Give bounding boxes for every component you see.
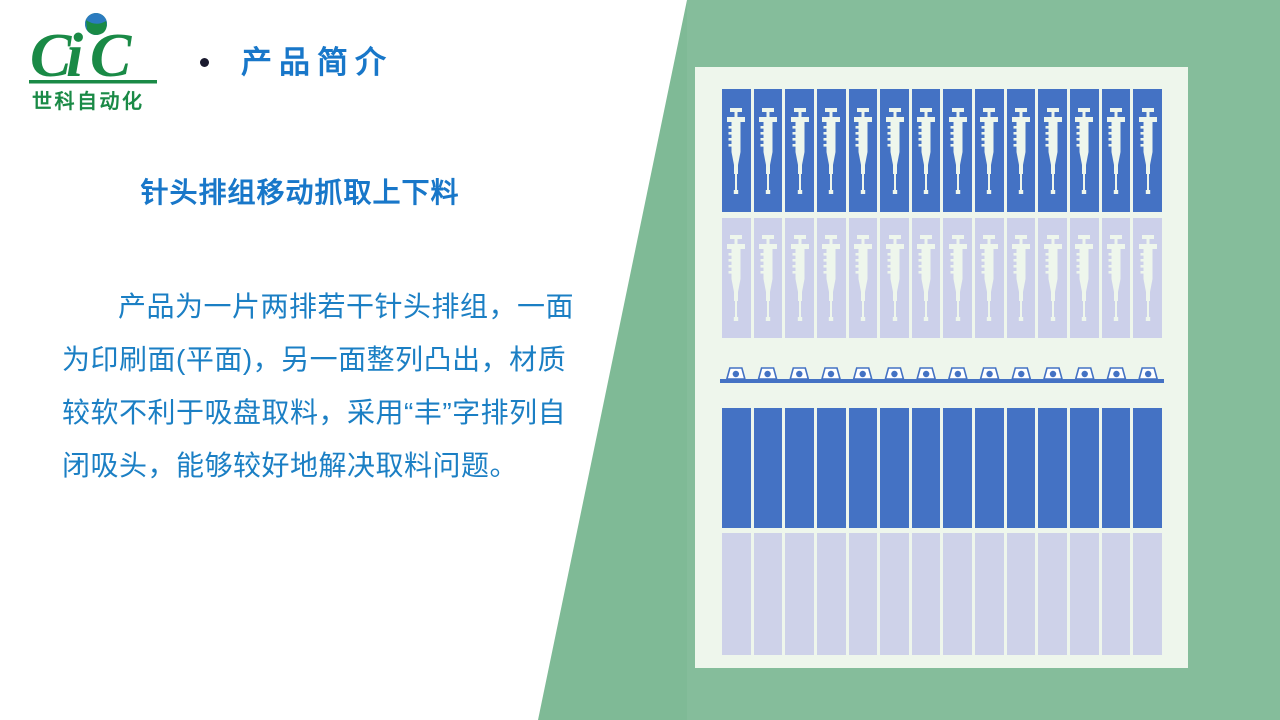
- grid-cell: [722, 533, 751, 655]
- grid-cell: [754, 89, 783, 212]
- grid-cell: [849, 533, 878, 655]
- syringe-icon: [915, 235, 937, 321]
- syringe-icon: [757, 108, 779, 194]
- syringe-icon: [725, 235, 747, 321]
- grid-cell: [1038, 218, 1067, 338]
- syringe-icon: [757, 108, 779, 194]
- grid-cell: [1133, 89, 1162, 212]
- grid-cell: [880, 533, 909, 655]
- grid-cell: [1133, 408, 1162, 528]
- syringe-icon: [1105, 235, 1127, 321]
- syringe-icon: [852, 108, 874, 194]
- syringe-icon: [1042, 235, 1064, 321]
- grid-cell: [1102, 533, 1131, 655]
- grid-cell: [722, 89, 751, 212]
- grid-cell: [975, 89, 1004, 212]
- grid-cell: [849, 218, 878, 338]
- grid-cell: [1070, 533, 1099, 655]
- grid-cell: [975, 533, 1004, 655]
- syringe-icon: [852, 235, 874, 321]
- slide-canvas: C i C 世科自动化 产品简介 针头排组移动抓取上下料 产品为一片两排若干针头…: [0, 0, 1280, 720]
- syringe-icon: [820, 108, 842, 194]
- needle-row-front: [722, 89, 1162, 212]
- syringe-icon: [884, 108, 906, 194]
- grid-cell: [1133, 218, 1162, 338]
- needle-row-back: [722, 218, 1162, 338]
- grid-cell: [943, 533, 972, 655]
- grid-cell: [1070, 408, 1099, 528]
- grid-cell: [880, 408, 909, 528]
- suction-cup-icon: [720, 363, 1164, 385]
- syringe-icon: [1042, 108, 1064, 194]
- grid-cell: [975, 408, 1004, 528]
- syringe-icon: [1073, 108, 1095, 194]
- grid-cell: [1038, 408, 1067, 528]
- syringe-icon: [1010, 235, 1032, 321]
- section-subheading: 针头排组移动抓取上下料: [0, 176, 600, 210]
- grid-cell: [1070, 89, 1099, 212]
- title-bullet-icon: [200, 58, 209, 67]
- grid-cell: [754, 408, 783, 528]
- grid-cell: [1007, 218, 1036, 338]
- grid-cell: [943, 89, 972, 212]
- grid-cell: [1007, 408, 1036, 528]
- grid-cell: [817, 89, 846, 212]
- grid-cell: [912, 533, 941, 655]
- syringe-icon: [915, 108, 937, 194]
- grid-cell: [1038, 533, 1067, 655]
- syringe-icon: [1010, 235, 1032, 321]
- grid-cell: [943, 218, 972, 338]
- syringe-icon: [884, 235, 906, 321]
- syringe-icon: [820, 235, 842, 321]
- syringe-icon: [947, 235, 969, 321]
- cic-logo-icon: C i C 世科自动化: [24, 10, 166, 114]
- syringe-icon: [947, 235, 969, 321]
- grid-cell: [912, 408, 941, 528]
- syringe-icon: [789, 108, 811, 194]
- syringe-icon: [1105, 108, 1127, 194]
- syringe-icon: [852, 108, 874, 194]
- grid-cell: [912, 89, 941, 212]
- grid-cell: [849, 89, 878, 212]
- syringe-icon: [1137, 108, 1159, 194]
- grid-cell: [849, 408, 878, 528]
- syringe-icon: [978, 108, 1000, 194]
- grid-cell: [1102, 218, 1131, 338]
- syringe-icon: [725, 235, 747, 321]
- syringe-icon: [915, 108, 937, 194]
- syringe-icon: [820, 235, 842, 321]
- syringe-icon: [820, 108, 842, 194]
- syringe-icon: [1010, 108, 1032, 194]
- grid-cell: [1102, 408, 1131, 528]
- svg-text:i: i: [66, 22, 83, 90]
- svg-text:C: C: [90, 22, 132, 90]
- syringe-icon: [789, 235, 811, 321]
- company-logo: C i C 世科自动化: [24, 10, 166, 114]
- syringe-icon: [1042, 235, 1064, 321]
- grid-cell: [1007, 533, 1036, 655]
- syringe-icon: [1137, 235, 1159, 321]
- grid-cell: [1070, 218, 1099, 338]
- body-paragraph: 产品为一片两排若干针头排组，一面为印刷面(平面)，另一面整列凸出，材质较软不利于…: [62, 280, 582, 492]
- product-illustration-panel: [695, 67, 1188, 668]
- page-title: 产品简介: [241, 47, 393, 78]
- grid-cell: [817, 408, 846, 528]
- grid-cell: [817, 218, 846, 338]
- grid-cell: [722, 218, 751, 338]
- syringe-icon: [1137, 108, 1159, 194]
- syringe-icon: [947, 108, 969, 194]
- tray-row-front: [722, 408, 1162, 528]
- syringe-icon: [789, 235, 811, 321]
- syringe-icon: [1010, 108, 1032, 194]
- syringe-icon: [789, 108, 811, 194]
- syringe-icon: [1105, 235, 1127, 321]
- grid-cell: [880, 218, 909, 338]
- syringe-icon: [1073, 235, 1095, 321]
- grid-cell: [975, 218, 1004, 338]
- syringe-icon: [947, 108, 969, 194]
- grid-cell: [1007, 89, 1036, 212]
- tray-row-back: [722, 533, 1162, 655]
- grid-cell: [1102, 89, 1131, 212]
- grid-cell: [785, 408, 814, 528]
- syringe-icon: [1042, 108, 1064, 194]
- syringe-icon: [757, 235, 779, 321]
- syringe-icon: [852, 235, 874, 321]
- syringe-icon: [884, 235, 906, 321]
- syringe-icon: [725, 108, 747, 194]
- grid-cell: [912, 218, 941, 338]
- syringe-icon: [884, 108, 906, 194]
- slide-header: C i C 世科自动化 产品简介: [24, 14, 393, 110]
- grid-cell: [1038, 89, 1067, 212]
- syringe-icon: [757, 235, 779, 321]
- grid-cell: [1133, 533, 1162, 655]
- grid-cell: [817, 533, 846, 655]
- syringe-icon: [1105, 108, 1127, 194]
- grid-cell: [754, 218, 783, 338]
- syringe-icon: [1137, 235, 1159, 321]
- syringe-icon: [978, 235, 1000, 321]
- suction-cup-strip: [720, 363, 1164, 385]
- syringe-icon: [978, 235, 1000, 321]
- syringe-icon: [725, 108, 747, 194]
- syringe-icon: [1073, 235, 1095, 321]
- grid-cell: [880, 89, 909, 212]
- grid-cell: [754, 533, 783, 655]
- grid-cell: [785, 218, 814, 338]
- grid-cell: [785, 89, 814, 212]
- grid-cell: [722, 408, 751, 528]
- syringe-icon: [1073, 108, 1095, 194]
- svg-text:世科自动化: 世科自动化: [32, 89, 145, 113]
- grid-cell: [785, 533, 814, 655]
- grid-cell: [943, 408, 972, 528]
- syringe-icon: [978, 108, 1000, 194]
- syringe-icon: [915, 235, 937, 321]
